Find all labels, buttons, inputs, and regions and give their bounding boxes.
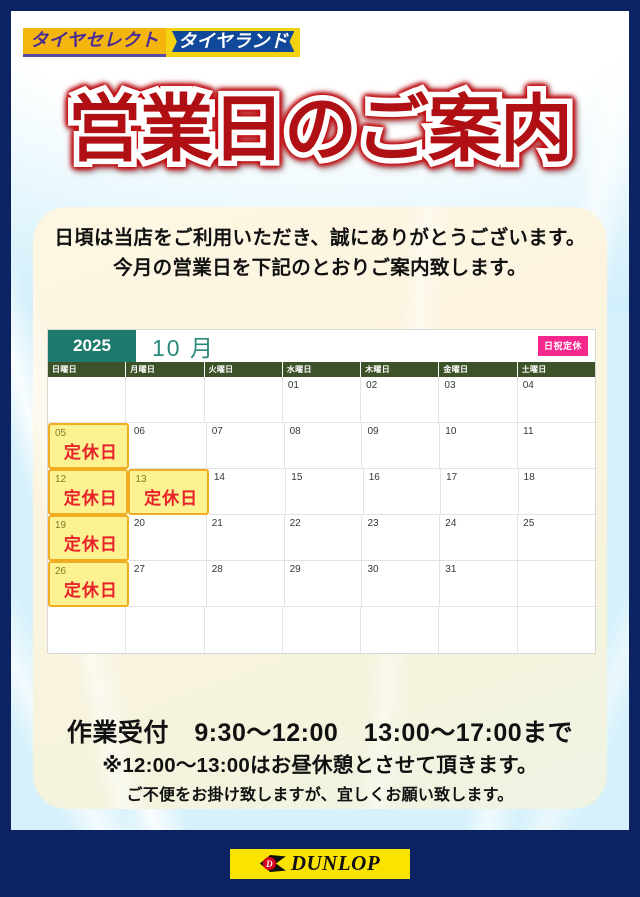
brand-tag-tire-land: タイヤランド [166, 28, 300, 57]
calendar-day-number: 16 [369, 472, 440, 484]
poster-frame: タイヤセレクト タイヤランド 営業日のご案内 日頃は当店をご利用いただき、誠にあ… [0, 0, 640, 897]
intro-line-1: 日頃は当店をご利用いただき、誠にありがとうございます。 [11, 223, 629, 253]
calendar-weekday-header-0: 日曜日 [48, 362, 126, 377]
calendar-day-cell: 25 [518, 515, 595, 561]
calendar-day-cell [205, 607, 283, 653]
calendar-weekday-header-2: 火曜日 [205, 362, 283, 377]
calendar-body: 0102030405定休日06070809101112定休日13定休日14151… [48, 377, 595, 653]
calendar-day-number: 14 [214, 472, 285, 484]
calendar-day-number: 04 [523, 380, 595, 392]
calendar-day-cell: 15 [286, 469, 363, 515]
calendar-day-number: 09 [367, 426, 439, 438]
calendar-day-cell [518, 561, 595, 607]
calendar-day-cell: 23 [362, 515, 440, 561]
calendar-weekday-header-6: 土曜日 [518, 362, 595, 377]
calendar-day-cell: 09 [362, 423, 440, 469]
calendar-day-cell: 14 [209, 469, 286, 515]
calendar-weekday-header-1: 月曜日 [126, 362, 204, 377]
calendar-day-cell: 07 [207, 423, 285, 469]
calendar-day-cell: 31 [440, 561, 518, 607]
calendar-week-row: 01020304 [48, 377, 595, 423]
calendar-day-cell: 08 [285, 423, 363, 469]
calendar-day-number: 30 [367, 564, 439, 576]
calendar-day-cell: 11 [518, 423, 595, 469]
calendar-day-cell: 16 [364, 469, 441, 515]
calendar-weekday-header-4: 木曜日 [361, 362, 439, 377]
calendar-day-cell: 27 [129, 561, 207, 607]
calendar-day-number: 24 [445, 518, 517, 530]
calendar-day-cell [126, 607, 204, 653]
calendar-day-cell: 02 [361, 377, 439, 423]
calendar-day-number: 11 [523, 426, 595, 438]
calendar-closed-label: 定休日 [55, 578, 127, 604]
calendar-day-cell [283, 607, 361, 653]
calendar-day-cell: 24 [440, 515, 518, 561]
poster-canvas: タイヤセレクト タイヤランド 営業日のご案内 日頃は当店をご利用いただき、誠にあ… [11, 11, 629, 841]
note-apology: ご不便をお掛け致しますが、宜しくお願い致します。 [11, 782, 629, 810]
dunlop-logo: D DUNLOP [230, 849, 410, 879]
calendar-day-cell: 18 [519, 469, 595, 515]
calendar-day-cell-closed: 26定休日 [48, 561, 129, 607]
calendar-day-number: 15 [291, 472, 362, 484]
calendar-day-cell-closed: 12定休日 [48, 469, 128, 515]
calendar-closed-label: 定休日 [55, 486, 126, 512]
calendar-day-number: 23 [367, 518, 439, 530]
calendar-day-number: 18 [524, 472, 595, 484]
note-lunch-break: ※12:00〜13:00はお昼休憩とさせて頂きます。 [11, 750, 629, 782]
calendar-weekday-header-row: 日曜日月曜日火曜日水曜日木曜日金曜日土曜日 [48, 362, 595, 377]
calendar-header: 2025 10 月 日祝定休 [48, 330, 595, 362]
calendar-day-number: 06 [134, 426, 206, 438]
calendar-day-number: 02 [366, 380, 438, 392]
page-title: 営業日のご案内 [11, 74, 629, 186]
brand-tag-tire-select: タイヤセレクト [23, 28, 166, 57]
calendar: 2025 10 月 日祝定休 日曜日月曜日火曜日水曜日木曜日金曜日土曜日 010… [47, 329, 596, 654]
calendar-day-number: 07 [212, 426, 284, 438]
calendar-day-cell [439, 607, 517, 653]
calendar-day-number: 20 [134, 518, 206, 530]
calendar-day-number: 22 [290, 518, 362, 530]
calendar-day-number: 29 [290, 564, 362, 576]
calendar-legend: 日祝定休 [538, 330, 595, 362]
calendar-year: 2025 [48, 330, 136, 362]
calendar-day-cell-closed: 19定休日 [48, 515, 129, 561]
calendar-day-cell: 22 [285, 515, 363, 561]
calendar-week-row [48, 607, 595, 653]
calendar-day-number: 31 [445, 564, 517, 576]
calendar-day-number: 28 [212, 564, 284, 576]
calendar-day-number: 01 [288, 380, 360, 392]
calendar-day-cell [126, 377, 204, 423]
calendar-day-number: 03 [444, 380, 516, 392]
calendar-day-cell: 28 [207, 561, 285, 607]
calendar-day-number: 12 [55, 474, 126, 486]
calendar-day-cell: 29 [285, 561, 363, 607]
intro-line-2: 今月の営業日を下記のとおりご案内致します。 [11, 253, 629, 283]
calendar-day-cell-closed: 05定休日 [48, 423, 129, 469]
calendar-day-cell: 17 [441, 469, 518, 515]
calendar-day-cell: 01 [283, 377, 361, 423]
calendar-day-cell [48, 377, 126, 423]
calendar-day-cell: 04 [518, 377, 595, 423]
calendar-day-cell-closed: 13定休日 [128, 469, 208, 515]
calendar-day-cell: 30 [362, 561, 440, 607]
calendar-day-cell: 20 [129, 515, 207, 561]
calendar-weekday-header-5: 金曜日 [439, 362, 517, 377]
calendar-day-cell [361, 607, 439, 653]
calendar-day-cell [48, 607, 126, 653]
calendar-day-number: 17 [446, 472, 517, 484]
calendar-day-number: 21 [212, 518, 284, 530]
intro-text: 日頃は当店をご利用いただき、誠にありがとうございます。 今月の営業日を下記のとお… [11, 223, 629, 283]
calendar-closed-label: 定休日 [55, 440, 127, 466]
calendar-closed-label: 定休日 [55, 532, 127, 558]
calendar-day-number: 10 [445, 426, 517, 438]
calendar-closed-label: 定休日 [135, 486, 206, 512]
calendar-day-cell: 10 [440, 423, 518, 469]
dunlop-disc-letter: D [263, 857, 276, 870]
footer-bar: D DUNLOP [0, 830, 640, 897]
calendar-week-row: 19定休日202122232425 [48, 515, 595, 561]
calendar-weekday-header-3: 水曜日 [283, 362, 361, 377]
calendar-day-number: 27 [134, 564, 206, 576]
calendar-day-number: 26 [55, 566, 127, 578]
business-hours-notes: 作業受付 9:30〜12:00 13:00〜17:00まで ※12:00〜13:… [11, 716, 629, 810]
calendar-week-row: 12定休日13定休日1415161718 [48, 469, 595, 515]
calendar-day-number: 25 [523, 518, 595, 530]
calendar-week-row: 26定休日2728293031 [48, 561, 595, 607]
calendar-day-cell: 21 [207, 515, 285, 561]
note-hours: 作業受付 9:30〜12:00 13:00〜17:00まで [11, 716, 629, 750]
calendar-day-cell [518, 607, 595, 653]
status-badge-closed-sundays-holidays: 日祝定休 [538, 336, 588, 356]
calendar-day-cell: 06 [129, 423, 207, 469]
dunlop-wordmark: DUNLOP [291, 851, 380, 876]
dunlop-flying-d-icon: D [260, 855, 286, 872]
calendar-day-number: 13 [135, 474, 206, 486]
calendar-month: 10 月 [136, 330, 538, 362]
calendar-day-cell [205, 377, 283, 423]
calendar-week-row: 05定休日060708091011 [48, 423, 595, 469]
calendar-day-cell: 03 [439, 377, 517, 423]
brand-tag-tire-land-label: タイヤランド [172, 31, 294, 52]
brand-tag-group: タイヤセレクト タイヤランド [23, 28, 300, 57]
calendar-day-number: 05 [55, 428, 127, 440]
calendar-day-number: 08 [290, 426, 362, 438]
calendar-day-number: 19 [55, 520, 127, 532]
